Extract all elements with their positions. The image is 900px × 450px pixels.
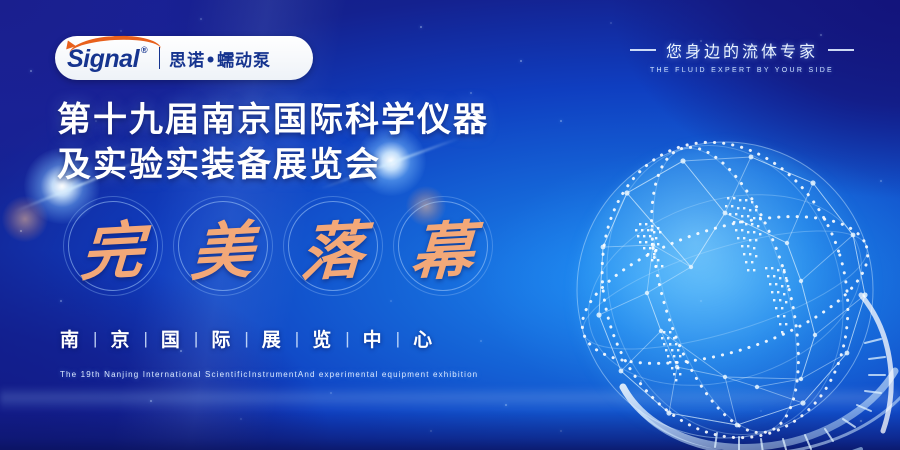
- venue-separator: |: [244, 329, 248, 349]
- exhibition-banner: Signal ® 思诺•蠕动泵 您身边的流体专家 THE FLUID EXPER…: [0, 0, 900, 450]
- venue-separator: |: [143, 329, 147, 349]
- venue-separator: |: [295, 329, 299, 349]
- background-star-dot: [820, 34, 822, 36]
- background-star-dot: [120, 30, 122, 32]
- background-star-dot: [470, 92, 472, 94]
- background-star-dot: [560, 120, 562, 122]
- venue-char: 心: [413, 325, 433, 352]
- logo-brand-cn: 思诺•蠕动泵: [169, 46, 271, 71]
- globe-graphic: [565, 135, 900, 450]
- brand-logo[interactable]: Signal ® 思诺•蠕动泵: [55, 36, 313, 80]
- calligraphy-char-3: 落: [282, 198, 382, 306]
- calligraphy-char-2: 美: [172, 198, 272, 306]
- slogan-rule-left-icon: [630, 49, 656, 51]
- calligraphy-char-1: 完: [62, 198, 162, 306]
- venue-char: 京: [110, 325, 130, 352]
- venue-name: 南|京|国|际|展|览|中|心: [60, 325, 433, 352]
- venue-char: 览: [312, 325, 332, 352]
- background-star-dot: [520, 60, 522, 62]
- venue-char: 中: [363, 325, 383, 352]
- calligraphy-char-4: 幕: [392, 198, 492, 306]
- event-subtitle-en: The 19th Nanjing International Scientifi…: [60, 370, 478, 379]
- venue-char: 国: [161, 325, 181, 352]
- background-star-dot: [20, 230, 22, 232]
- calligraphy-glyph: 完: [79, 219, 145, 284]
- event-title-line-1: 第十九届南京国际科学仪器: [57, 98, 489, 143]
- dotted-world-globe-icon: [565, 135, 900, 450]
- background-star-dot: [480, 340, 482, 342]
- event-title: 第十九届南京国际科学仪器 及实验实装备展览会: [57, 98, 489, 188]
- calligraphy-glyph: 美: [189, 219, 255, 284]
- venue-char: 南: [60, 325, 80, 352]
- venue-char: 展: [262, 325, 282, 352]
- calligraphy-glyph: 幕: [409, 219, 475, 284]
- slogan-cn-text: 您身边的流体专家: [666, 38, 818, 62]
- venue-separator: |: [396, 329, 400, 349]
- calligraphy-headline: 完美落幕: [62, 198, 492, 306]
- slogan-rule-right-icon: [828, 49, 854, 51]
- brand-slogan: 您身边的流体专家 THE FLUID EXPERT BY YOUR SIDE: [612, 38, 872, 74]
- venue-separator: |: [345, 329, 349, 349]
- logo-wordmark: Signal ®: [67, 45, 148, 72]
- event-title-line-2: 及实验实装备展览会: [57, 143, 489, 188]
- venue-char: 际: [211, 325, 231, 352]
- venue-separator: |: [93, 329, 97, 349]
- calligraphy-glyph: 落: [299, 219, 365, 284]
- background-star-dot: [30, 70, 32, 72]
- background-star-dot: [200, 18, 202, 20]
- slogan-en-text: THE FLUID EXPERT BY YOUR SIDE: [612, 67, 872, 74]
- background-star-dot: [610, 22, 612, 24]
- venue-separator: |: [194, 329, 198, 349]
- background-star-dot: [420, 26, 422, 28]
